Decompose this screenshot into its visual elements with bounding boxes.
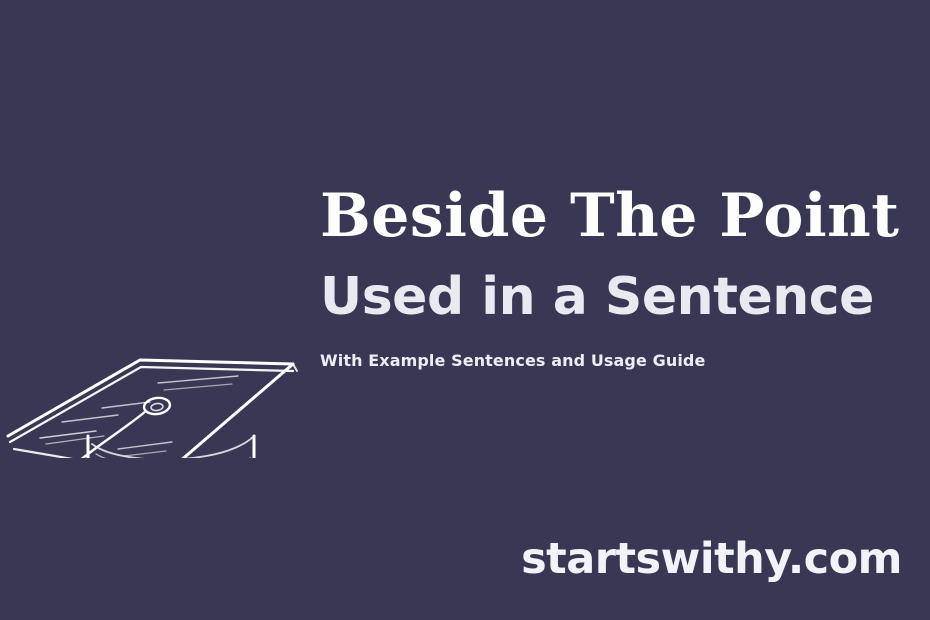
brand-name: startswithy.com [521, 534, 902, 584]
page-subtitle: Used in a Sentence [320, 270, 920, 325]
page-title: Beside The Point [320, 186, 920, 246]
headline-block: Beside The Point Used in a Sentence With… [320, 186, 920, 370]
page-tagline: With Example Sentences and Usage Guide [320, 351, 920, 370]
graduation-cap-icon [0, 168, 300, 458]
banner: Beside The Point Used in a Sentence With… [0, 0, 930, 620]
